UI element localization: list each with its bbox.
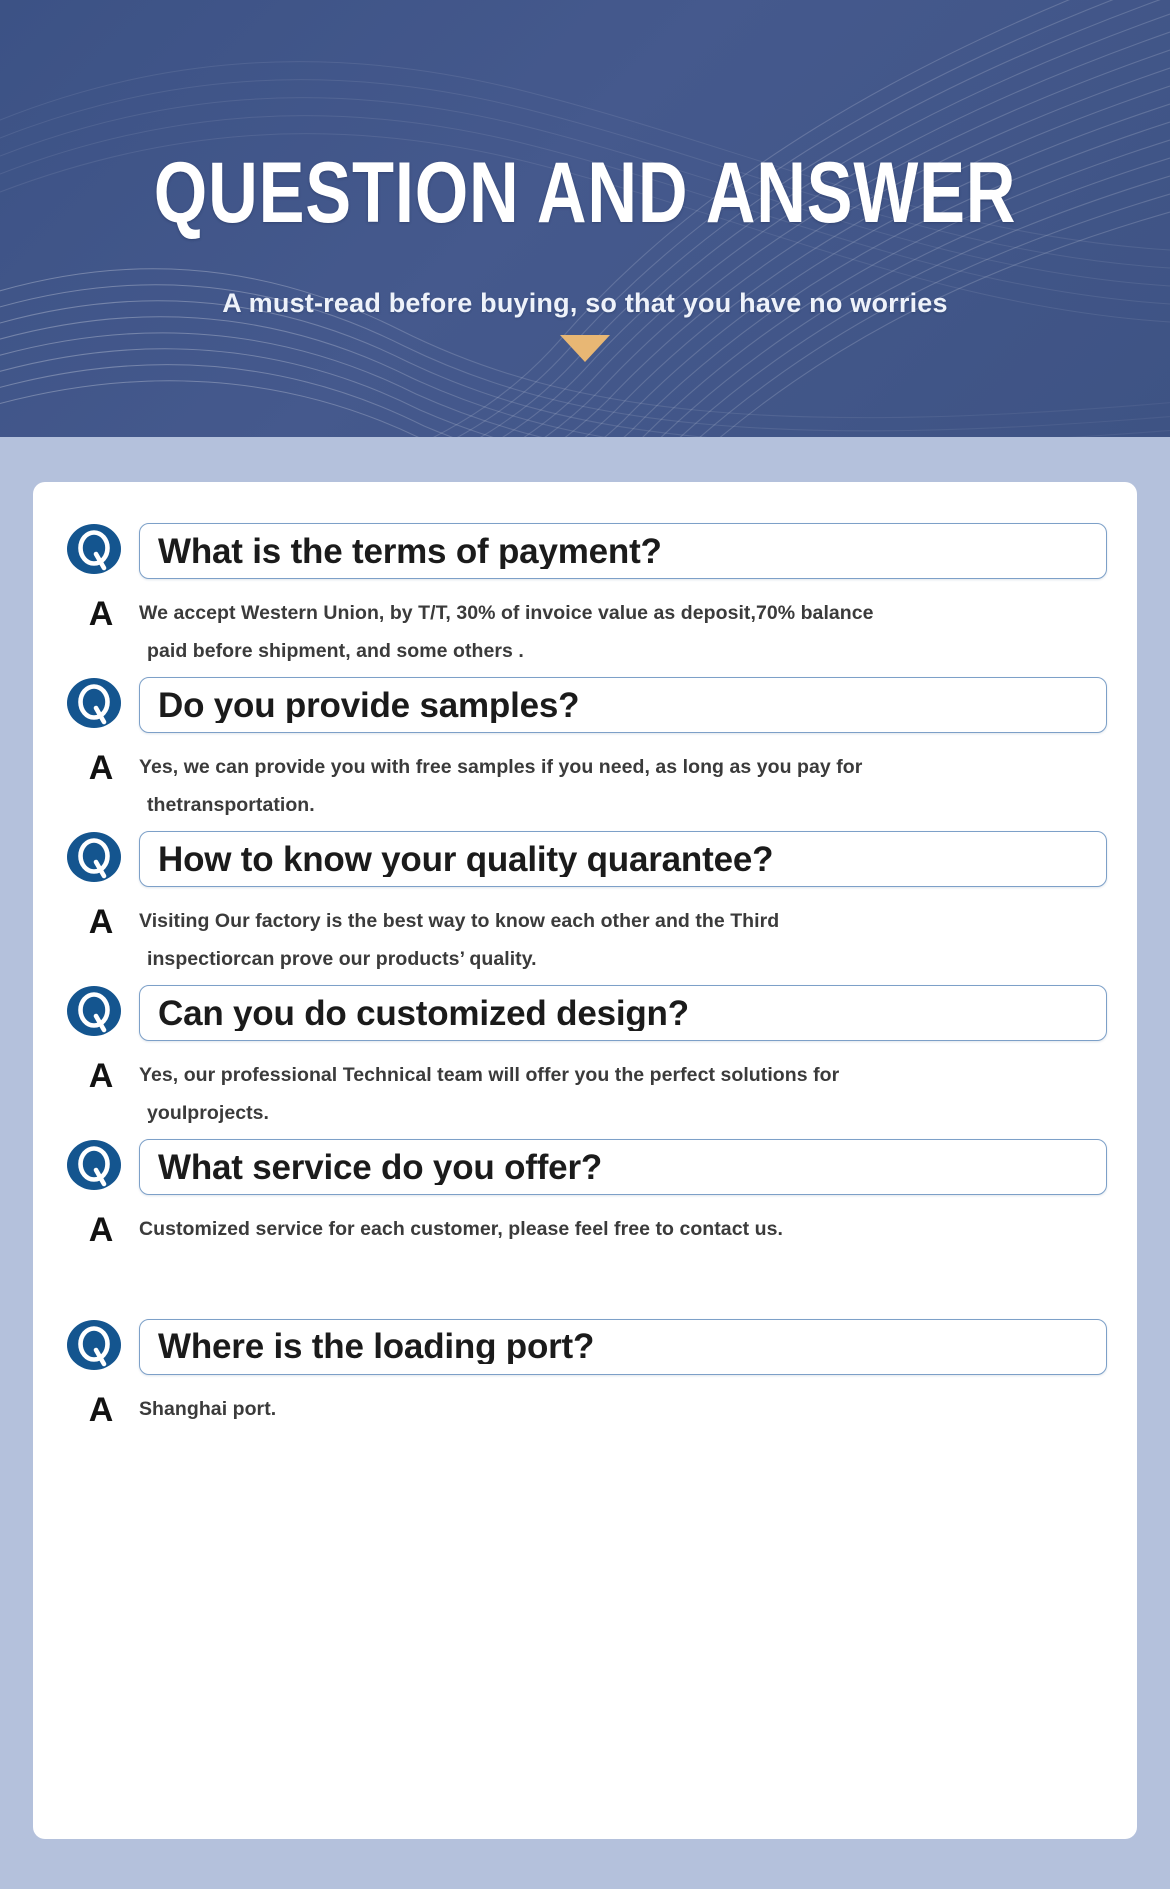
q-letter-icon <box>63 1318 125 1376</box>
question-text: Where is the loading port? <box>158 1329 594 1364</box>
a-letter-label: A <box>63 1390 139 1429</box>
answer-line-1: Yes, our professional Technical team wil… <box>139 1064 839 1086</box>
answer-line-1: Shanghai port. <box>139 1398 276 1420</box>
question-row[interactable]: What is the terms of payment? <box>63 522 1107 580</box>
faq-body: What is the terms of payment? A We accep… <box>0 437 1170 1889</box>
question-text: Can you do customized design? <box>158 996 689 1031</box>
question-box[interactable]: What service do you offer? <box>139 1139 1107 1195</box>
question-box[interactable]: Can you do customized design? <box>139 985 1107 1041</box>
question-text: What is the terms of payment? <box>158 534 662 569</box>
faq-item: Can you do customized design? A Yes, our… <box>63 984 1107 1138</box>
question-row[interactable]: What service do you offer? <box>63 1138 1107 1196</box>
answer-row: A Customized service for each customer, … <box>63 1210 1107 1249</box>
answer-row: A Yes, we can provide you with free samp… <box>63 748 1107 824</box>
answer-line-1: Yes, we can provide you with free sample… <box>139 756 862 778</box>
answer-line-2: inspectiorcan prove our products’ qualit… <box>139 940 1097 978</box>
answer-text: Customized service for each customer, pl… <box>139 1210 1107 1248</box>
question-box[interactable]: Do you provide samples? <box>139 677 1107 733</box>
a-letter-label: A <box>63 748 139 787</box>
question-text: Do you provide samples? <box>158 688 579 723</box>
question-box[interactable]: Where is the loading port? <box>139 1319 1107 1375</box>
faq-item: What service do you offer? A Customized … <box>63 1138 1107 1255</box>
question-box[interactable]: What is the terms of payment? <box>139 523 1107 579</box>
question-text: How to know your quality quarantee? <box>158 842 773 877</box>
answer-line-2: paid before shipment, and some others . <box>139 632 1097 670</box>
faq-card: What is the terms of payment? A We accep… <box>33 482 1137 1839</box>
answer-line-2: thetransportation. <box>139 786 1097 824</box>
answer-line-1: Visiting Our factory is the best way to … <box>139 910 779 932</box>
answer-row: A Shanghai port. <box>63 1390 1107 1429</box>
answer-text: Yes, our professional Technical team wil… <box>139 1056 1107 1132</box>
faq-item: Do you provide samples? A Yes, we can pr… <box>63 676 1107 830</box>
answer-row: A Visiting Our factory is the best way t… <box>63 902 1107 978</box>
answer-row: A Yes, our professional Technical team w… <box>63 1056 1107 1132</box>
question-text: What service do you offer? <box>158 1150 602 1185</box>
q-letter-icon <box>63 522 125 580</box>
answer-row: A We accept Western Union, by T/T, 30% o… <box>63 594 1107 670</box>
faq-item: Where is the loading port? A Shanghai po… <box>63 1318 1107 1435</box>
faq-item: What is the terms of payment? A We accep… <box>63 522 1107 676</box>
answer-line-1: Customized service for each customer, pl… <box>139 1218 783 1240</box>
answer-text: Visiting Our factory is the best way to … <box>139 902 1107 978</box>
question-row[interactable]: Where is the loading port? <box>63 1318 1107 1376</box>
a-letter-label: A <box>63 1210 139 1249</box>
answer-text: Yes, we can provide you with free sample… <box>139 748 1107 824</box>
q-letter-icon <box>63 830 125 888</box>
page-title: QUESTION AND ANSWER <box>154 150 1016 236</box>
q-letter-icon <box>63 1138 125 1196</box>
triangle-down-icon <box>560 335 610 362</box>
a-letter-label: A <box>63 1056 139 1095</box>
question-row[interactable]: Can you do customized design? <box>63 984 1107 1042</box>
a-letter-label: A <box>63 594 139 633</box>
q-letter-icon <box>63 984 125 1042</box>
a-letter-label: A <box>63 902 139 941</box>
question-box[interactable]: How to know your quality quarantee? <box>139 831 1107 887</box>
answer-line-2: youIprojects. <box>139 1094 1097 1132</box>
answer-text: Shanghai port. <box>139 1390 1107 1428</box>
q-letter-icon <box>63 676 125 734</box>
question-row[interactable]: Do you provide samples? <box>63 676 1107 734</box>
page-header: QUESTION AND ANSWER A must-read before b… <box>0 0 1170 437</box>
faq-item: How to know your quality quarantee? A Vi… <box>63 830 1107 984</box>
answer-line-1: We accept Western Union, by T/T, 30% of … <box>139 602 874 624</box>
answer-text: We accept Western Union, by T/T, 30% of … <box>139 594 1107 670</box>
question-row[interactable]: How to know your quality quarantee? <box>63 830 1107 888</box>
page-subtitle: A must-read before buying, so that you h… <box>222 288 947 319</box>
